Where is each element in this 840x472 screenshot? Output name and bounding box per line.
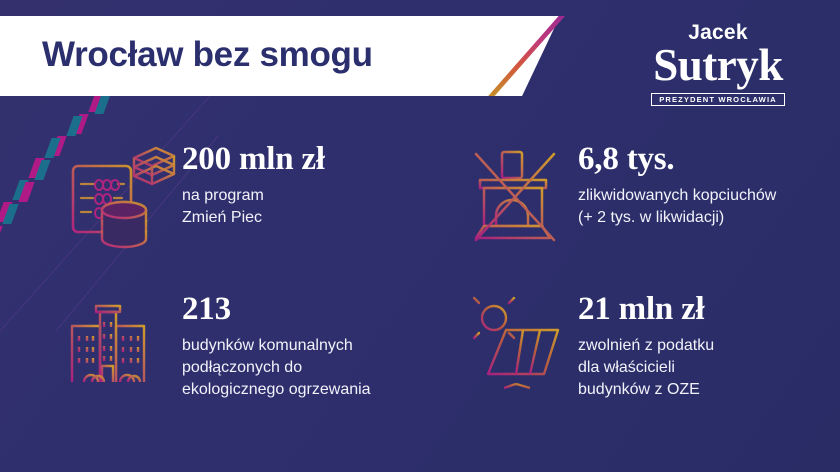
stat-item: 21 mln zł zwolnień z podatku dla właścic… (458, 290, 838, 402)
stat-description: zwolnień z podatku dla właścicieli budyn… (578, 335, 714, 401)
stat-description: zlikwidowanych kopciuchów (+ 2 tys. w li… (578, 185, 776, 229)
stat-item: 6,8 tys. zlikwidowanych kopciuchów (+ 2 … (458, 140, 838, 250)
stat-description: budynków komunalnych podłączonych do eko… (182, 335, 371, 401)
stat-number: 21 mln zł (578, 292, 714, 326)
document-money-icon (62, 140, 182, 250)
crossed-out-stove-icon (458, 140, 578, 250)
stat-number: 200 mln zł (182, 142, 325, 176)
apartment-buildings-icon (62, 290, 182, 400)
logo-last-name: Sutryk (634, 44, 802, 87)
page-title: Wrocław bez smogu (42, 35, 373, 75)
solar-panel-sun-icon (458, 290, 578, 400)
stat-description: na program Zmień Piec (182, 185, 325, 229)
logo: Jacek Sutryk PREZYDENT WROCŁAWIA (634, 22, 802, 107)
stat-number: 6,8 tys. (578, 142, 776, 176)
logo-subtitle: PREZYDENT WROCŁAWIA (651, 93, 785, 107)
stat-item: 200 mln zł na program Zmień Piec (62, 140, 462, 250)
infographic-slide: Wrocław bez smogu Jacek Sutryk PREZYDENT… (0, 0, 840, 472)
stat-number: 213 (182, 292, 371, 326)
stat-item: 213 budynków komunalnych podłączonych do… (62, 290, 462, 402)
